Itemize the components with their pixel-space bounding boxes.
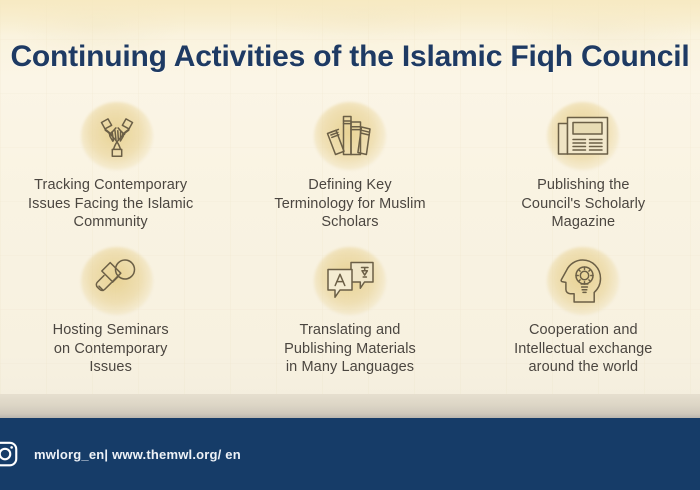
background-top-highlight <box>0 0 700 36</box>
icon-container <box>535 245 631 317</box>
activities-grid: Tracking Contemporary Issues Facing the … <box>0 100 700 390</box>
footer-content: mwlorg_en| www.themwl.org/ en <box>0 418 241 490</box>
newspaper-icon <box>553 111 613 161</box>
activity-item-tracking-issues: Tracking Contemporary Issues Facing the … <box>0 100 233 245</box>
books-row-icon <box>322 109 378 163</box>
slide-title: Continuing Activities of the Islamic Fiq… <box>0 40 700 74</box>
activity-caption: Translating and Publishing Materials in … <box>284 321 416 377</box>
footer-handle-and-website[interactable]: mwlorg_en| www.themwl.org/ en <box>34 447 241 462</box>
icon-container <box>535 100 631 172</box>
activity-item-defining-terminology: Defining Key Terminology for Muslim Scho… <box>233 100 466 245</box>
footer-bar: mwlorg_en| www.themwl.org/ en <box>0 418 700 490</box>
activity-item-publishing-magazine: Publishing the Council's Scholarly Magaz… <box>467 100 700 245</box>
activity-item-translating-materials: Translating and Publishing Materials in … <box>233 245 466 390</box>
three-hands-teamwork-icon <box>88 109 146 163</box>
activity-caption: Tracking Contemporary Issues Facing the … <box>28 176 193 232</box>
translation-speech-bubbles-icon <box>322 256 378 306</box>
activity-item-cooperation-exchange: Cooperation and Intellectual exchange ar… <box>467 245 700 390</box>
presentation-slide: Continuing Activities of the Islamic Fiq… <box>0 0 700 490</box>
activity-caption: Defining Key Terminology for Muslim Scho… <box>274 176 425 232</box>
activity-caption: Hosting Seminars on Contemporary Issues <box>53 321 169 377</box>
icon-container <box>302 100 398 172</box>
head-lightbulb-idea-icon <box>555 254 611 308</box>
footer-divider-band <box>0 394 700 418</box>
icon-container <box>302 245 398 317</box>
icon-container <box>69 245 165 317</box>
activity-caption: Publishing the Council's Scholarly Magaz… <box>521 176 645 232</box>
activity-caption: Cooperation and Intellectual exchange ar… <box>514 321 652 377</box>
instagram-icon[interactable] <box>0 439 20 469</box>
icon-container <box>69 100 165 172</box>
microphones-icon <box>90 254 144 308</box>
activity-item-hosting-seminars: Hosting Seminars on Contemporary Issues <box>0 245 233 390</box>
